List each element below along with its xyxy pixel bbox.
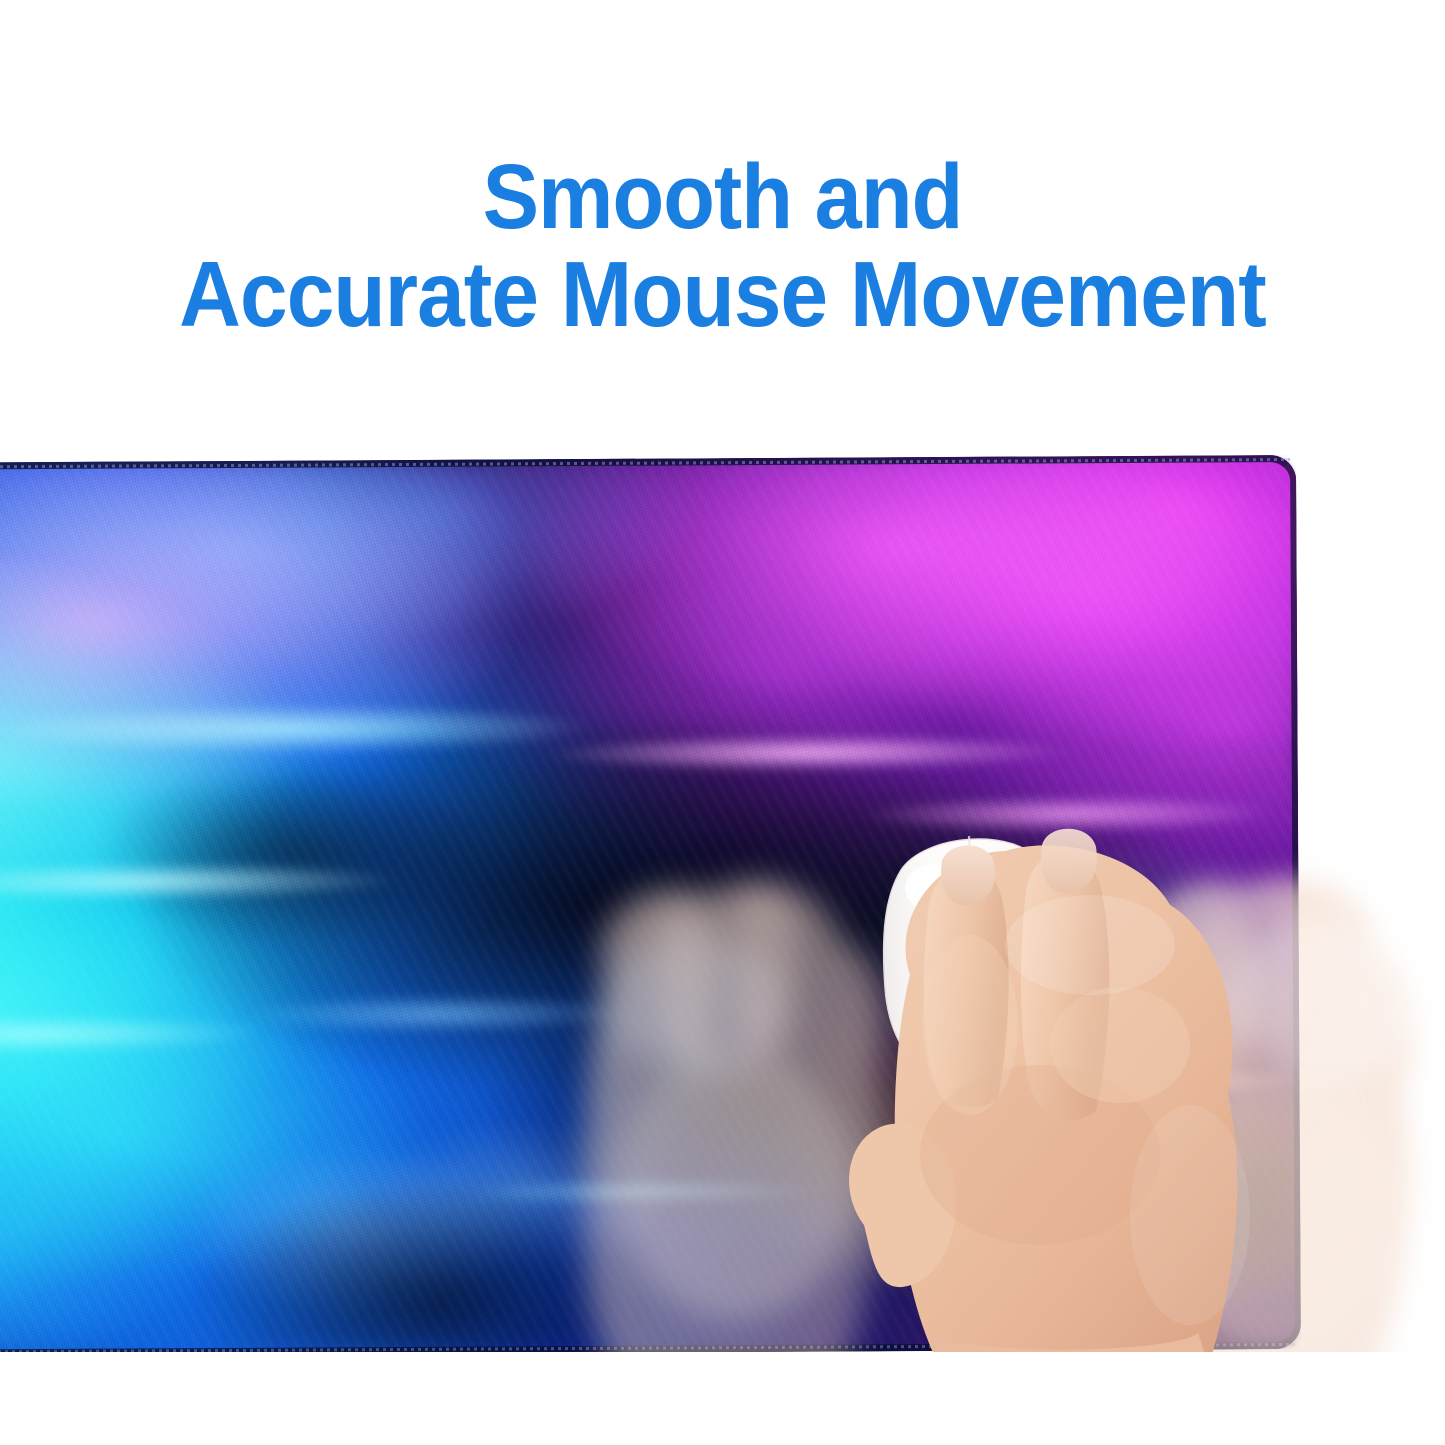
bottom-white-background [0,1352,1445,1445]
headline-line-2: Accurate Mouse Movement [58,246,1387,343]
headline-line-1: Smooth and [58,150,1387,246]
hand-gripping-mouse [790,795,1350,1445]
product-image-stage: Smooth and Accurate Mouse Movement [0,0,1445,1445]
page-title: Smooth and Accurate Mouse Movement [58,150,1387,342]
